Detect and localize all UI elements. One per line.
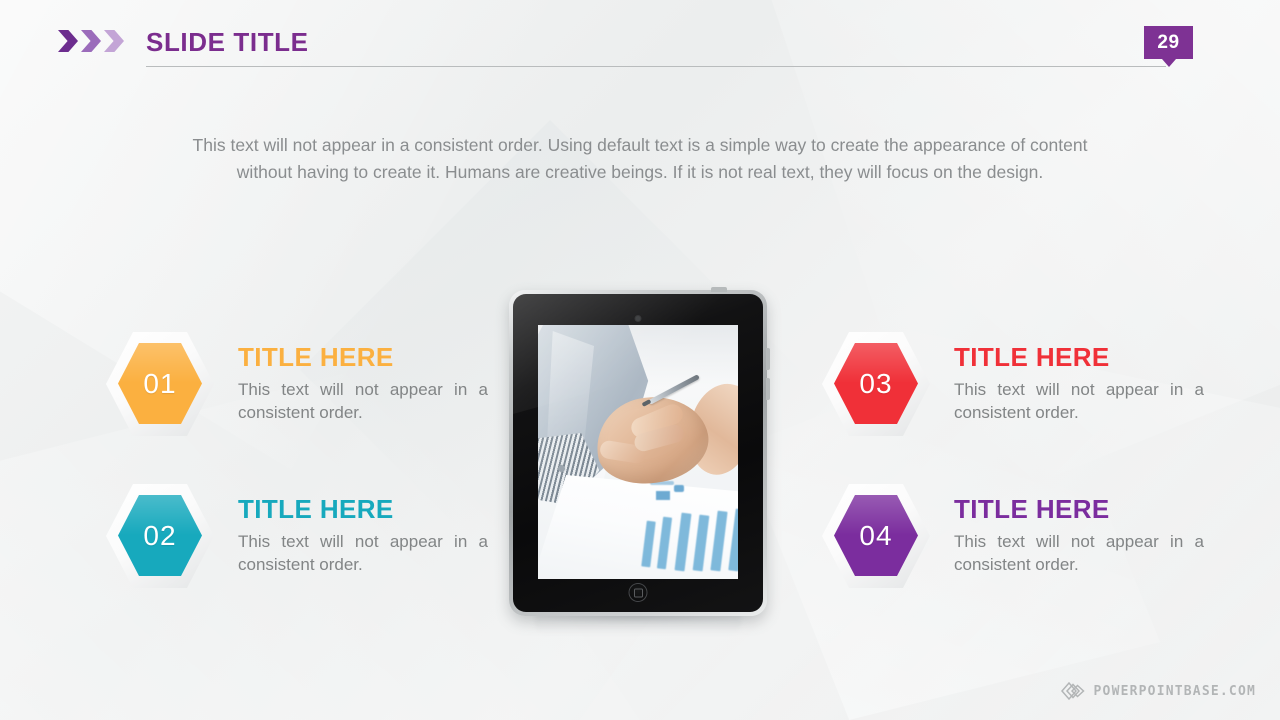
- chevron-icon-1: [58, 30, 78, 52]
- feature-title: TITLE HERE: [954, 342, 1204, 372]
- tablet-screen: [538, 325, 738, 579]
- power-button-icon[interactable]: [711, 287, 727, 292]
- feature-item-02[interactable]: 02 TITLE HERE This text will not appear …: [104, 482, 488, 590]
- home-button-icon[interactable]: [629, 583, 648, 602]
- tablet-body: [509, 290, 767, 616]
- hexagon-badge-04: 04: [820, 482, 932, 590]
- feature-description: This text will not appear in a consisten…: [238, 530, 488, 576]
- photo-chart-mark: [656, 491, 670, 500]
- feature-text-03: TITLE HERE This text will not appear in …: [954, 330, 1204, 424]
- feature-text-01: TITLE HERE This text will not appear in …: [238, 330, 488, 424]
- hexagon-number-label: 04: [859, 520, 892, 552]
- lead-paragraph: This text will not appear in a consisten…: [190, 132, 1090, 186]
- feature-text-04: TITLE HERE This text will not appear in …: [954, 482, 1204, 576]
- hexagon-badge-01: 01: [104, 330, 216, 438]
- hexagon-number-label: 03: [859, 368, 892, 400]
- footer-brand: POWERPOINTBASE.COM: [1060, 680, 1256, 702]
- hexagon-number-label: 02: [143, 520, 176, 552]
- feature-description: This text will not appear in a consisten…: [954, 530, 1204, 576]
- badge-notch-icon: [1162, 59, 1176, 67]
- feature-item-01[interactable]: 01 TITLE HERE This text will not appear …: [104, 330, 488, 438]
- front-camera-icon: [636, 316, 641, 321]
- diamond-rhombus-logo-icon: [1060, 680, 1086, 702]
- photo-cuff-button: [558, 465, 565, 472]
- feature-text-02: TITLE HERE This text will not appear in …: [238, 482, 488, 576]
- tablet-device: [509, 290, 767, 616]
- hexagon-badge-02: 02: [104, 482, 216, 590]
- page-title: SLIDE TITLE: [146, 27, 309, 58]
- page-number-badge: 29: [1144, 26, 1193, 59]
- double-chevron-right-icon: [58, 30, 124, 52]
- feature-description: This text will not appear in a consisten…: [954, 378, 1204, 424]
- slide-header: SLIDE TITLE 29: [0, 0, 1280, 78]
- hexagon-badge-03: 03: [820, 330, 932, 438]
- feature-title: TITLE HERE: [238, 342, 488, 372]
- photo-chart-mark: [674, 485, 684, 492]
- page-number-label: 29: [1144, 26, 1193, 59]
- feature-title: TITLE HERE: [954, 494, 1204, 524]
- feature-item-03[interactable]: 03 TITLE HERE This text will not appear …: [820, 330, 1204, 438]
- chevron-icon-3: [104, 30, 124, 52]
- feature-item-04[interactable]: 04 TITLE HERE This text will not appear …: [820, 482, 1204, 590]
- volume-up-button-icon[interactable]: [766, 348, 770, 370]
- feature-description: This text will not appear in a consisten…: [238, 378, 488, 424]
- header-divider: [146, 66, 1166, 67]
- feature-title: TITLE HERE: [238, 494, 488, 524]
- footer-brand-label: POWERPOINTBASE.COM: [1094, 684, 1256, 699]
- chevron-icon-2: [81, 30, 101, 52]
- volume-down-button-icon[interactable]: [766, 378, 770, 400]
- hexagon-number-label: 01: [143, 368, 176, 400]
